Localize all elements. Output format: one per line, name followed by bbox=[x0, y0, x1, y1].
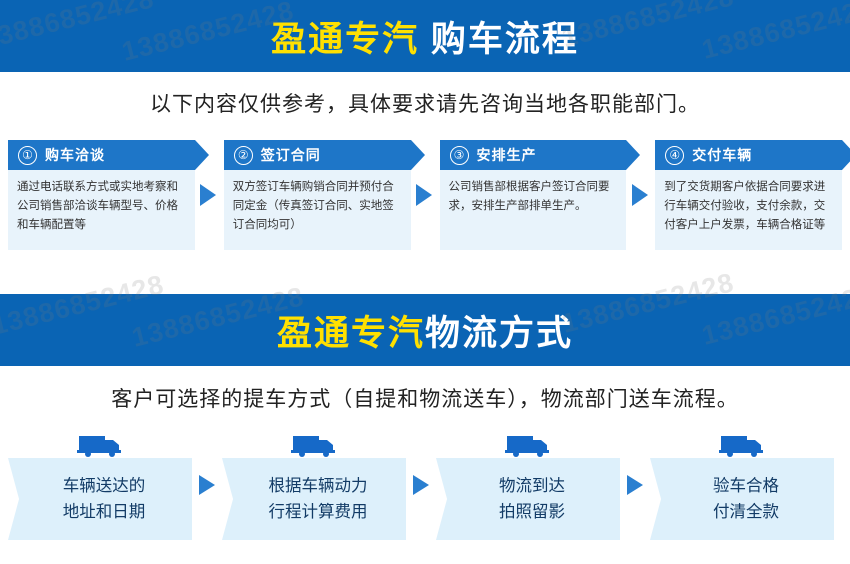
logistics-step-box: 根据车辆动力 行程计算费用 bbox=[222, 458, 406, 540]
logistics-step-4: 验车合格 付清全款 bbox=[650, 430, 834, 540]
logistics-step-box: 车辆送达的 地址和日期 bbox=[8, 458, 192, 540]
banner-title-highlight: 盈通专汽 bbox=[277, 314, 425, 353]
banner-title: 盈通专汽 购车流程 bbox=[271, 11, 579, 62]
logistics-step-line1: 验车合格 bbox=[713, 473, 779, 499]
step-number-badge: ② bbox=[234, 146, 253, 165]
logistics-banner: 盈通专汽物流方式 bbox=[0, 294, 850, 366]
purchase-step-2: ② 签订合同 双方签订车辆购销合同并预付合同定金（传真签订合同、实地签订合同均可… bbox=[224, 140, 411, 250]
logistics-step-2: 根据车辆动力 行程计算费用 bbox=[222, 430, 406, 540]
chevron-right-icon bbox=[620, 430, 650, 540]
step-title: 安排生产 bbox=[477, 145, 537, 165]
banner-title-rest: 物流方式 bbox=[425, 314, 573, 353]
purchase-step-list: ① 购车洽谈 通过电话联系方式或实地考察和公司销售部洽谈车辆型号、价格和车辆配置… bbox=[8, 140, 842, 260]
step-body: 双方签订车辆购销合同并预付合同定金（传真签订合同、实地签订合同均可） bbox=[224, 170, 411, 250]
logistics-step-1: 车辆送达的 地址和日期 bbox=[8, 430, 192, 540]
step-number-badge: ③ bbox=[450, 146, 469, 165]
purchase-process-banner: 盈通专汽 购车流程 bbox=[0, 0, 850, 72]
step-header: ① 购车洽谈 bbox=[8, 140, 195, 170]
step-title: 交付车辆 bbox=[692, 145, 752, 165]
banner-title: 盈通专汽物流方式 bbox=[277, 305, 573, 356]
logistics-step-line2: 行程计算费用 bbox=[269, 499, 368, 525]
step-title: 签订合同 bbox=[261, 145, 321, 165]
step-header: ② 签订合同 bbox=[224, 140, 411, 170]
logistics-subtitle: 客户可选择的提车方式（自提和物流送车），物流部门送车流程。 bbox=[0, 383, 850, 413]
step-header: ④ 交付车辆 bbox=[655, 140, 842, 170]
step-title: 购车洽谈 bbox=[45, 145, 105, 165]
step-number-badge: ① bbox=[18, 146, 37, 165]
logistics-step-line1: 车辆送达的 bbox=[63, 473, 146, 499]
chevron-right-icon bbox=[192, 430, 222, 540]
truck-icon bbox=[505, 430, 551, 458]
logistics-step-box: 物流到达 拍照留影 bbox=[436, 458, 620, 540]
truck-icon bbox=[291, 430, 337, 458]
truck-icon bbox=[719, 430, 765, 458]
purchase-process-subtitle: 以下内容仅供参考，具体要求请先咨询当地各职能部门。 bbox=[0, 88, 850, 118]
logistics-step-line1: 物流到达 bbox=[499, 473, 565, 499]
logistics-step-line2: 地址和日期 bbox=[63, 499, 146, 525]
banner-title-rest: 购车流程 bbox=[419, 20, 579, 59]
purchase-step-1: ① 购车洽谈 通过电话联系方式或实地考察和公司销售部洽谈车辆型号、价格和车辆配置… bbox=[8, 140, 195, 250]
truck-icon bbox=[77, 430, 123, 458]
purchase-step-4: ④ 交付车辆 到了交货期客户依据合同要求进行车辆交付验收，支付余款，交付客户上户… bbox=[655, 140, 842, 250]
logistics-step-line2: 拍照留影 bbox=[499, 499, 565, 525]
step-header: ③ 安排生产 bbox=[440, 140, 627, 170]
banner-title-highlight: 盈通专汽 bbox=[271, 20, 419, 59]
chevron-right-icon bbox=[406, 430, 436, 540]
logistics-step-list: 车辆送达的 地址和日期 根据车辆动力 行程计算费用 bbox=[8, 430, 842, 550]
step-body: 到了交货期客户依据合同要求进行车辆交付验收，支付余款，交付客户上户发票，车辆合格… bbox=[655, 170, 842, 250]
logistics-step-line2: 付清全款 bbox=[713, 499, 779, 525]
step-body: 通过电话联系方式或实地考察和公司销售部洽谈车辆型号、价格和车辆配置等 bbox=[8, 170, 195, 250]
step-number-badge: ④ bbox=[665, 146, 684, 165]
step-body: 公司销售部根据客户签订合同要求，安排生产部排单生产。 bbox=[440, 170, 627, 250]
logistics-step-line1: 根据车辆动力 bbox=[269, 473, 368, 499]
purchase-step-3: ③ 安排生产 公司销售部根据客户签订合同要求，安排生产部排单生产。 bbox=[440, 140, 627, 250]
logistics-step-3: 物流到达 拍照留影 bbox=[436, 430, 620, 540]
logistics-step-box: 验车合格 付清全款 bbox=[650, 458, 834, 540]
